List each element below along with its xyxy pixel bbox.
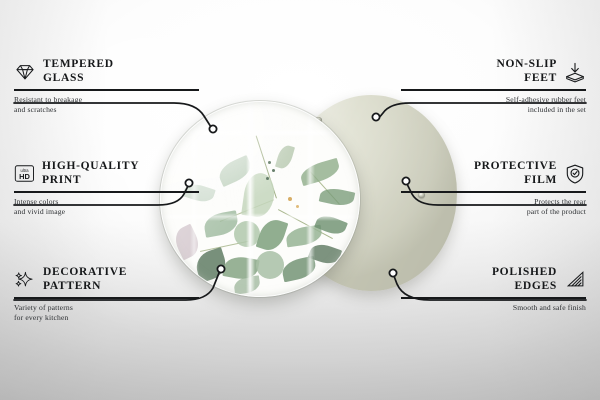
diamond-icon — [14, 61, 36, 83]
feature-header: ultra HD HIGH-QUALITY PRINT — [14, 160, 199, 187]
connector-node-tempered-glass — [209, 125, 216, 132]
divider — [401, 89, 586, 91]
feature-decorative-pattern: DECORATIVE PATTERN Variety of patterns f… — [14, 266, 199, 323]
shield-check-icon — [564, 163, 586, 185]
feature-header: TEMPERED GLASS — [14, 58, 199, 85]
feature-title: DECORATIVE PATTERN — [43, 266, 127, 293]
divider — [14, 297, 199, 299]
feature-description: Self-adhesive rubber feet included in th… — [401, 95, 586, 115]
divider — [401, 297, 586, 299]
connector-node-decorative-pattern — [217, 265, 224, 272]
feature-description: Intense colors and vivid image — [14, 197, 199, 217]
feature-title: PROTECTIVE FILM — [474, 160, 557, 187]
feature-title: NON-SLIP FEET — [496, 58, 557, 85]
feature-header: DECORATIVE PATTERN — [14, 266, 199, 293]
feature-description: Resistant to breakage and scratches — [14, 95, 199, 115]
feature-protective-film: PROTECTIVE FILM Protects the rear part o… — [401, 160, 586, 217]
press-down-arrow-icon — [564, 61, 586, 83]
feature-header: POLISHED EDGES — [401, 266, 586, 293]
feature-title: POLISHED EDGES — [492, 266, 557, 293]
feature-description: Protects the rear part of the product — [401, 197, 586, 217]
connector-node-polished-edges — [389, 269, 396, 276]
divider — [401, 191, 586, 193]
connector-node-non-slip-feet — [372, 113, 379, 120]
feature-title: TEMPERED GLASS — [43, 58, 114, 85]
feature-header: NON-SLIP FEET — [401, 58, 586, 85]
infographic-canvas: TEMPERED GLASS Resistant to breakage and… — [0, 0, 600, 400]
feature-title: HIGH-QUALITY PRINT — [42, 160, 139, 187]
sparkles-icon — [14, 269, 36, 291]
feature-polished-edges: POLISHED EDGES Smooth and safe finish — [401, 266, 586, 313]
svg-text:HD: HD — [19, 172, 30, 181]
feature-non-slip-feet: NON-SLIP FEET Self-adhesive rubber feet … — [401, 58, 586, 115]
feature-header: PROTECTIVE FILM — [401, 160, 586, 187]
divider — [14, 89, 199, 91]
feature-high-quality-print: ultra HD HIGH-QUALITY PRINT Intense colo… — [14, 160, 199, 217]
feature-description: Variety of patterns for every kitchen — [14, 303, 199, 323]
divider — [14, 191, 199, 193]
feature-tempered-glass: TEMPERED GLASS Resistant to breakage and… — [14, 58, 199, 115]
ultra-hd-icon: ultra HD — [14, 164, 35, 183]
hatched-wedge-icon — [564, 269, 586, 291]
feature-description: Smooth and safe finish — [401, 303, 586, 313]
